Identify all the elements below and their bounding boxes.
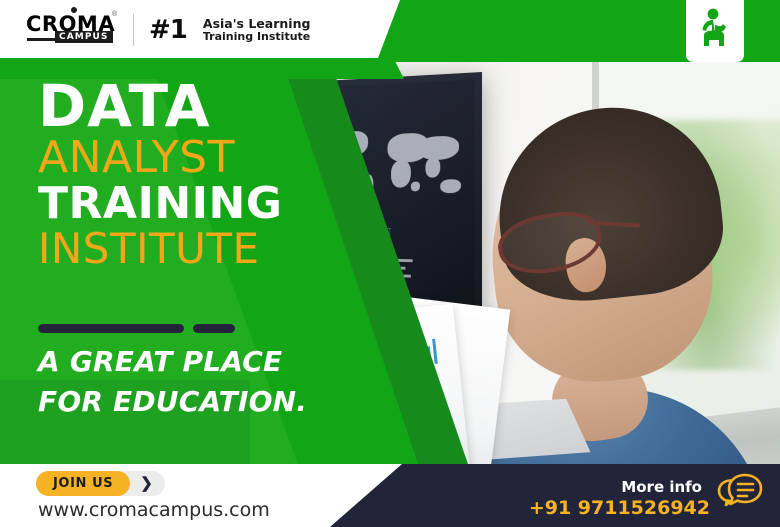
logo-divider [133, 14, 134, 46]
join-us-label: JOIN US [36, 471, 130, 496]
registered-mark: ® [112, 11, 117, 18]
join-us-button[interactable]: JOIN US ❯ [36, 471, 165, 496]
brand-header[interactable]: CROMA CAMPUS ® #1 Asia's Learning Traini… [26, 11, 310, 49]
croma-campus-logo[interactable]: CROMA CAMPUS ® [26, 11, 118, 49]
more-info-label: More info [621, 478, 702, 496]
speech-bubble-icon[interactable] [716, 471, 764, 518]
chevron-right-icon: ❯ [140, 476, 153, 491]
achievement-badge [686, 0, 744, 62]
headline-line-analyst: ANALYST [38, 135, 368, 182]
brand-tagline-line1: Asia's Learning [203, 17, 311, 31]
person-achievement-icon [693, 5, 737, 55]
divider-bar-long [38, 324, 184, 333]
logo-dot-icon [71, 7, 77, 13]
headline-line-institute: INSTITUTE [38, 227, 368, 272]
promo-banner: 7.00 7.00 7.00 [0, 0, 780, 527]
rank-badge: #1 [149, 15, 187, 45]
divider-bars [38, 324, 235, 333]
divider-bar-short [193, 324, 235, 333]
brand-tagline: Asia's Learning Training Institute [203, 17, 311, 43]
headline-line-training: TRAINING [38, 181, 368, 227]
logo-subwordmark: CAMPUS [55, 31, 113, 43]
subtagline-line2: FOR EDUCATION. [38, 382, 368, 422]
subtagline-line1: A GREAT PLACE [38, 342, 368, 382]
brand-tagline-line2: Training Institute [203, 31, 311, 43]
phone-number[interactable]: +91 9711526942 [529, 497, 710, 519]
website-link[interactable]: www.cromacampus.com [38, 499, 270, 521]
headline-line-data: DATA [38, 78, 368, 135]
subtagline-block: A GREAT PLACE FOR EDUCATION. [38, 342, 368, 422]
headline-block: DATA ANALYST TRAINING INSTITUTE [38, 78, 368, 272]
